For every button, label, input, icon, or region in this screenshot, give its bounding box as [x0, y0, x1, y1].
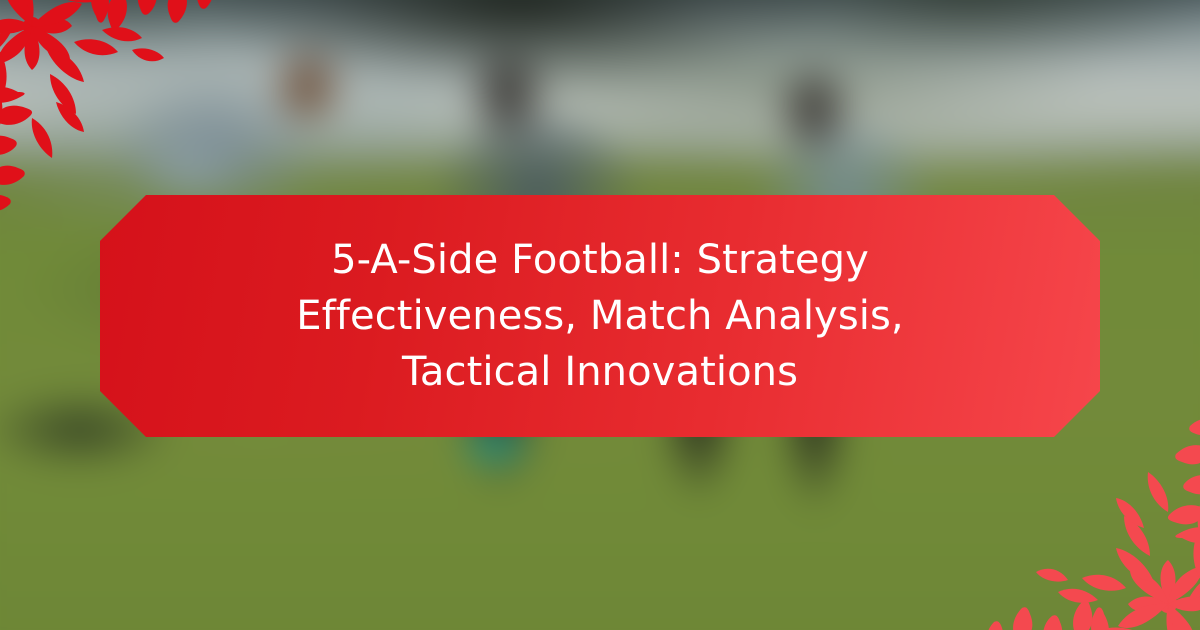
social-card: 5-A-Side Football: Strategy Effectivenes…: [0, 0, 1200, 630]
title-banner: 5-A-Side Football: Strategy Effectivenes…: [100, 195, 1100, 437]
background-player-figure: [130, 135, 250, 205]
background-player-figure: [460, 48, 556, 153]
page-title: 5-A-Side Football: Strategy Effectivenes…: [170, 232, 1030, 400]
background-player-figure: [770, 65, 858, 165]
background-player-figure: [265, 40, 350, 135]
